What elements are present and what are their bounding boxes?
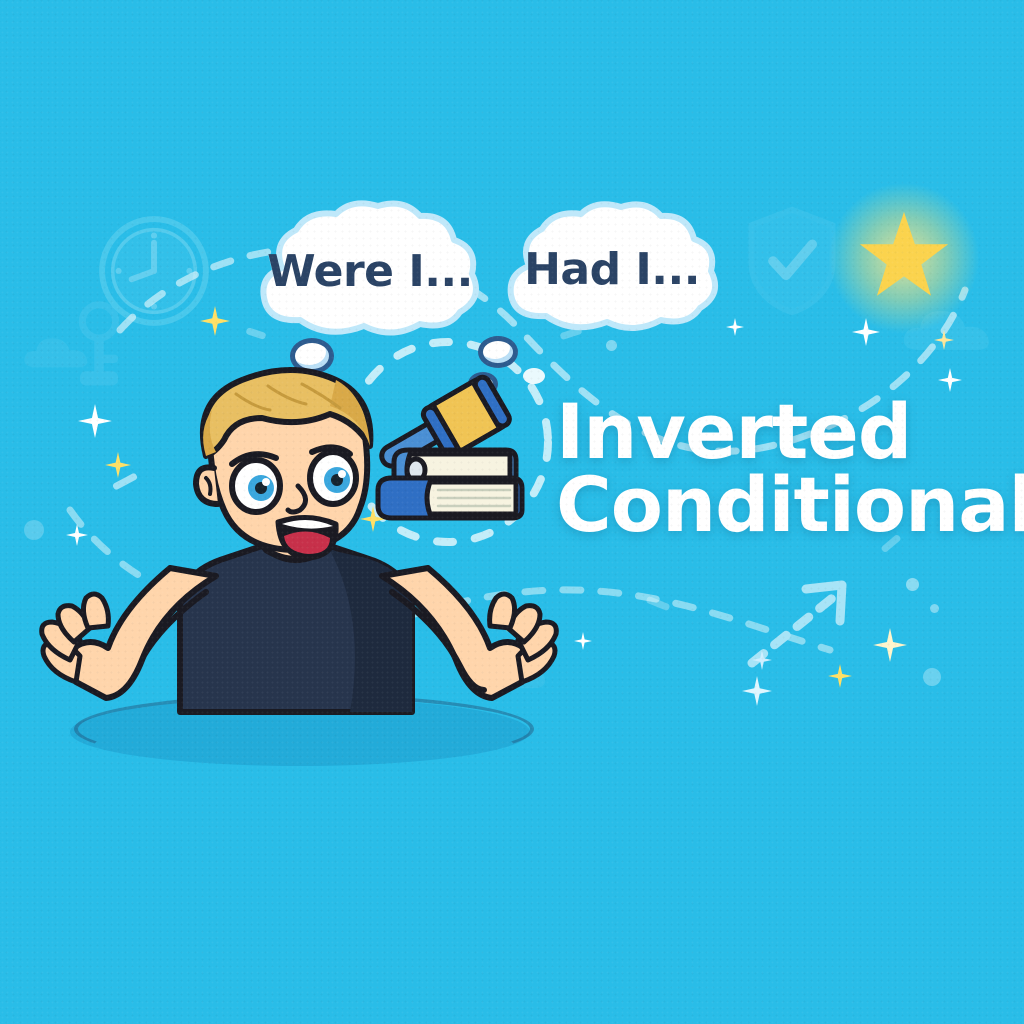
- page-title-line-2: Conditionals: [556, 469, 1024, 542]
- page-title-line-1: Inverted: [556, 396, 1024, 469]
- thought-bubble-were: Were I...: [252, 198, 488, 344]
- thought-bubble-were-text: Were I...: [252, 198, 488, 344]
- glowing-star-icon: [846, 200, 962, 316]
- confetti-dot: [523, 368, 545, 384]
- confetti-dot: [906, 578, 919, 591]
- page-title: Inverted Conditionals: [556, 396, 1024, 542]
- thought-bubble-had: Had I...: [500, 198, 724, 340]
- illustration-canvas: Were I... Had I...: [0, 0, 1024, 1024]
- confetti-dot: [923, 668, 941, 686]
- confetti-dot: [606, 340, 617, 351]
- confetti-dot: [930, 604, 939, 613]
- thought-bubble-had-text: Had I...: [500, 198, 724, 340]
- character-illustration: [30, 360, 560, 750]
